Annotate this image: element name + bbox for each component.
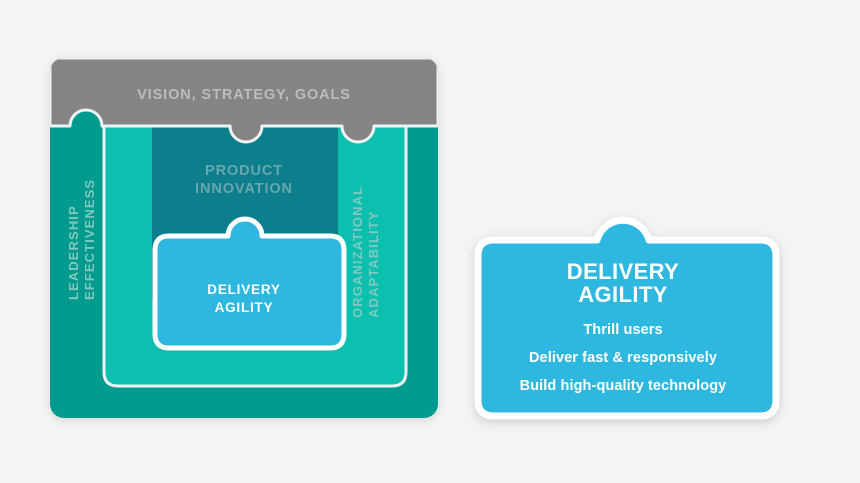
- svg-text:DELIVERY: DELIVERY: [567, 259, 679, 284]
- svg-text:AGILITY: AGILITY: [578, 282, 668, 307]
- svg-text:AGILITY: AGILITY: [215, 300, 274, 315]
- detail-card-bullet: Thrill users: [583, 322, 662, 338]
- detail-card-title: DELIVERY AGILITY: [567, 259, 679, 307]
- diagram-stage: VISION, STRATEGY, GOALS LEADERSHIP EFFEC…: [0, 0, 860, 483]
- detail-card-bullet: Deliver fast & responsively: [529, 350, 717, 366]
- header-label: VISION, STRATEGY, GOALS: [137, 87, 351, 103]
- svg-text:ORGANIZATIONAL: ORGANIZATIONAL: [350, 186, 365, 318]
- svg-text:EFFECTIVENESS: EFFECTIVENESS: [82, 179, 97, 300]
- agility-model-diagram: VISION, STRATEGY, GOALS LEADERSHIP EFFEC…: [0, 0, 860, 483]
- svg-text:INNOVATION: INNOVATION: [195, 181, 293, 197]
- svg-text:PRODUCT: PRODUCT: [205, 163, 283, 179]
- svg-text:DELIVERY: DELIVERY: [207, 282, 280, 297]
- svg-text:ADAPTABILITY: ADAPTABILITY: [366, 210, 381, 318]
- detail-card-bullet: Build high-quality technology: [520, 378, 727, 394]
- nested-puzzle-diagram: VISION, STRATEGY, GOALS LEADERSHIP EFFEC…: [50, 58, 438, 418]
- svg-text:LEADERSHIP: LEADERSHIP: [66, 205, 81, 300]
- delivery-agility-detail-card[interactable]: DELIVERY AGILITY Thrill users Deliver fa…: [478, 220, 776, 416]
